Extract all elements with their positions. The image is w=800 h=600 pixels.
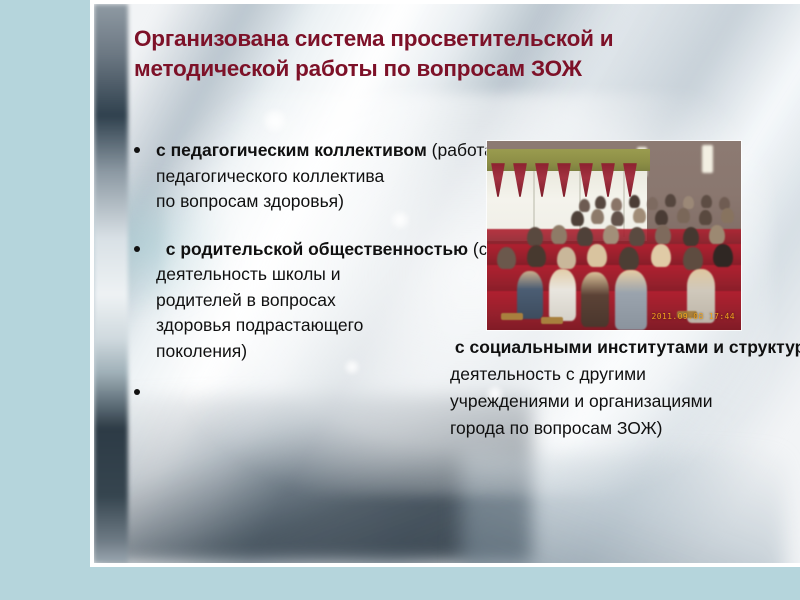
bullet-dot-icon [134, 246, 140, 252]
photo-audience-member [527, 227, 543, 246]
photo-audience-member [557, 247, 576, 269]
photo-curtain-seam [623, 171, 625, 237]
photo-audience-member [655, 225, 671, 244]
photo-audience-member [611, 211, 624, 226]
bullet-dot-icon [134, 389, 140, 395]
slide-screenshot: Организована система просветительской и … [0, 0, 800, 600]
photo-audience-member [665, 194, 676, 207]
photo-audience-member [603, 225, 619, 244]
photo-audience-member [647, 197, 658, 210]
right-paragraph-lead-text: с социальными институтами и структурами … [450, 337, 800, 357]
auditorium-audience-photo: 2011.09.08 17:44 [487, 141, 741, 330]
photo-audience-member [517, 271, 543, 319]
photo-seat-armrest [541, 317, 563, 324]
left-content-column: с педагогическим коллективом (работа пед… [128, 138, 406, 402]
photo-audience-member [683, 196, 694, 209]
photo-audience-member [701, 195, 712, 208]
photo-audience-member [577, 227, 593, 246]
photo-audience-member [699, 210, 712, 225]
photo-audience-member [497, 247, 516, 269]
photo-ceiling-light [702, 145, 713, 173]
photo-audience-member [677, 208, 690, 223]
photo-seat-armrest [501, 313, 523, 320]
right-content-column: с социальными институтами и структурами … [450, 334, 770, 442]
photo-audience-member [655, 210, 668, 225]
photo-audience-member [615, 270, 647, 330]
photo-audience-member [619, 247, 639, 270]
photo-audience-member [591, 209, 604, 224]
photo-audience-member [633, 208, 646, 223]
photo-audience-member [629, 227, 645, 246]
background-flare-1 [262, 108, 288, 134]
photo-audience-member [629, 195, 640, 208]
bullet-lead-text: с родительской общественностью [156, 239, 473, 259]
bullet-item-empty [128, 380, 406, 402]
presentation-slide: Организована система просветительской и … [90, 0, 800, 567]
photo-audience-member [683, 227, 699, 246]
photo-audience-member [713, 244, 733, 267]
photo-audience-member [611, 198, 622, 211]
background-left-dark-band [94, 4, 128, 563]
photo-timestamp: 2011.09.08 17:44 [652, 312, 735, 321]
photo-audience-member [651, 244, 671, 267]
photo-audience-member [579, 199, 590, 212]
photo-audience-member [683, 247, 703, 270]
photo-audience-member [595, 196, 606, 209]
photo-audience-member [551, 225, 567, 244]
photo-audience-member [527, 245, 546, 267]
photo-audience-member [581, 272, 609, 327]
bullet-item: с педагогическим коллективом (работа пед… [128, 138, 406, 215]
photo-audience-member [587, 244, 607, 267]
photo-audience-member [549, 269, 576, 321]
bullet-lead-text: с педагогическим коллективом [156, 140, 432, 160]
photo-audience-member [709, 225, 725, 244]
bullet-dot-icon [134, 147, 140, 153]
photo-audience-member [571, 211, 584, 226]
right-column-paragraph: с социальными институтами и структурами … [450, 334, 770, 442]
bullet-item: с родительской общественностью (совместн… [128, 237, 406, 365]
slide-title: Организована система просветительской и … [134, 24, 770, 84]
photo-audience-member [721, 208, 734, 223]
